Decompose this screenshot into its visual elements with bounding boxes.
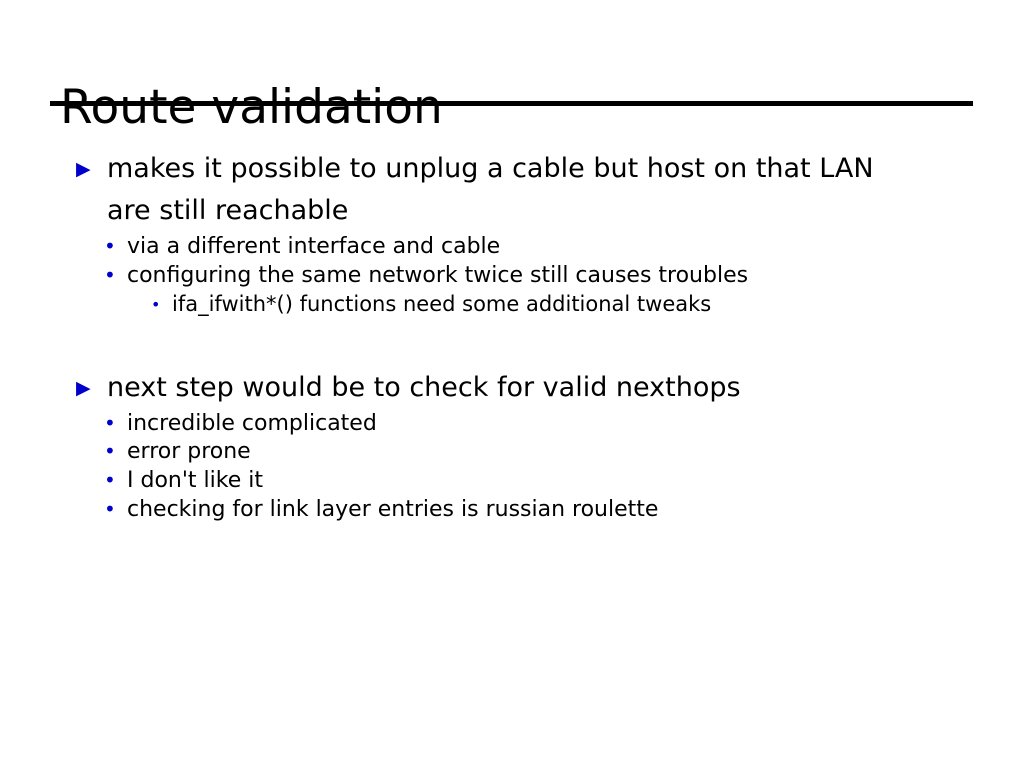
- dot-bullet-marker-icon: •: [151, 290, 167, 319]
- bullet-text: configuring the same network twice still…: [127, 263, 748, 288]
- dot-bullet-marker-icon: •: [104, 232, 122, 261]
- triangle-bullet-marker-icon: ▶: [76, 148, 98, 190]
- dot-bullet-marker-icon: •: [104, 261, 122, 290]
- bullet-item-level2: • via a different interface and cable: [0, 232, 1024, 261]
- bullet-item-level2: • error prone: [0, 437, 1024, 466]
- dot-bullet-marker-icon: •: [104, 495, 122, 524]
- presentation-slide: Route validation ▶ makes it possible to …: [0, 0, 1024, 768]
- bullet-text: incredible complicated: [127, 411, 377, 436]
- triangle-bullet-marker-icon: ▶: [76, 367, 98, 409]
- bullet-text: checking for link layer entries is russi…: [127, 497, 658, 522]
- dot-bullet-marker-icon: •: [104, 466, 122, 495]
- bullet-item-level2: • configuring the same network twice sti…: [0, 261, 1024, 290]
- bullet-item-level2: • checking for link layer entries is rus…: [0, 495, 1024, 524]
- dot-bullet-marker-icon: •: [104, 437, 122, 466]
- bullet-item-level2: • incredible complicated: [0, 409, 1024, 438]
- bullet-text: makes it possible to unplug a cable but …: [107, 148, 904, 232]
- section-spacer: [0, 319, 1024, 367]
- bullet-text: ifa_ifwith*() functions need some additi…: [172, 292, 711, 316]
- title-underline-rule: [50, 101, 973, 106]
- page-title: Route validation: [60, 83, 443, 133]
- bullet-text: next step would be to check for valid ne…: [107, 367, 904, 409]
- bullet-item-level3: • ifa_ifwith*() functions need some addi…: [0, 290, 1024, 319]
- bullet-item-level2: • I don't like it: [0, 466, 1024, 495]
- bullet-text: via a different interface and cable: [127, 234, 500, 259]
- dot-bullet-marker-icon: •: [104, 409, 122, 438]
- bullet-text: error prone: [127, 439, 251, 464]
- slide-body: ▶ makes it possible to unplug a cable bu…: [0, 148, 1024, 524]
- bullet-item-level1: ▶ makes it possible to unplug a cable bu…: [0, 148, 1024, 232]
- bullet-text: I don't like it: [127, 468, 263, 493]
- bullet-item-level1: ▶ next step would be to check for valid …: [0, 367, 1024, 409]
